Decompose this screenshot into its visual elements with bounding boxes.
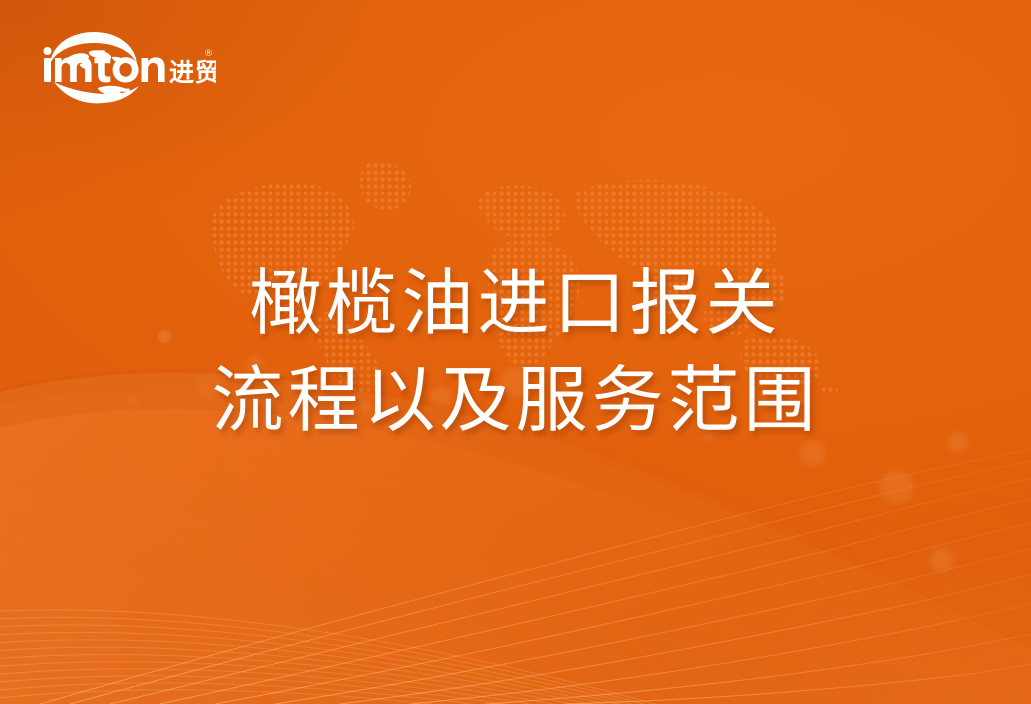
title-line-1: 橄榄油进口报关 bbox=[0, 255, 1031, 352]
logo-wordmark bbox=[44, 47, 165, 83]
title-line-2: 流程以及服务范围 bbox=[0, 352, 1031, 449]
logo-chinese-name: 进贸通 bbox=[169, 58, 216, 87]
title-slide: 进贸通 ® 橄榄油进口报关 流程以及服务范围 bbox=[0, 0, 1031, 704]
brand-logo[interactable]: 进贸通 ® bbox=[36, 26, 216, 104]
globe-world-logo bbox=[50, 32, 139, 103]
page-title: 橄榄油进口报关 流程以及服务范围 bbox=[0, 255, 1031, 449]
registered-trademark-icon: ® bbox=[204, 49, 213, 59]
